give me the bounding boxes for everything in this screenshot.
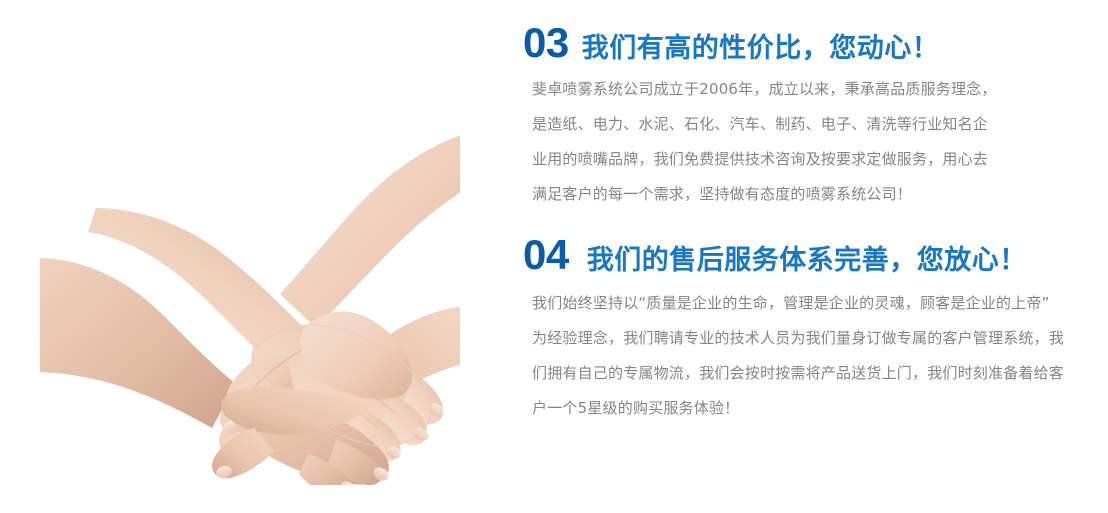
- section-03-line-3: 业用的喷嘴品牌，我们免费提供技术咨询及按要求定做服务，用心去: [532, 142, 1098, 177]
- section-04-title: 我们的售后服务体系完善，您放心！: [587, 247, 1027, 274]
- text-column: 03 我们有高的性价比，您动心！ 斐卓喷雾系统公司成立于2006年，成立以来，秉…: [523, 22, 1098, 426]
- section-03-body: 斐卓喷雾系统公司成立于2006年，成立以来，秉承高品质服务理念， 是造纸、电力、…: [523, 72, 1098, 212]
- section-04-heading: 04 我们的售后服务体系完善，您放心！: [523, 234, 1098, 276]
- section-03-line-1: 斐卓喷雾系统公司成立于2006年，成立以来，秉承高品质服务理念，: [532, 72, 1098, 107]
- section-04-body: 我们始终坚持以“质量是企业的生命，管理是企业的灵魂，顾客是企业的上帝” 为经验理…: [523, 286, 1098, 426]
- stacked-hands-teamwork-photo: [40, 110, 460, 485]
- section-03-heading: 03 我们有高的性价比，您动心！: [523, 22, 1098, 64]
- section-03-number: 03: [523, 22, 569, 64]
- section-03: 03 我们有高的性价比，您动心！ 斐卓喷雾系统公司成立于2006年，成立以来，秉…: [523, 22, 1098, 212]
- section-04-line-3: 们拥有自己的专属物流，我们会按时按需将产品送货上门，我们时刻准备着给客: [532, 356, 1098, 391]
- section-04-line-1: 我们始终坚持以“质量是企业的生命，管理是企业的灵魂，顾客是企业的上帝”: [532, 286, 1098, 321]
- section-04-line-4: 户一个5星级的购买服务体验！: [532, 391, 1098, 426]
- section-03-line-2: 是造纸、电力、水泥、石化、汽车、制药、电子、清洗等行业知名企: [532, 107, 1098, 142]
- section-04: 04 我们的售后服务体系完善，您放心！ 我们始终坚持以“质量是企业的生命，管理是…: [523, 234, 1098, 426]
- section-04-number: 04: [523, 234, 569, 276]
- section-03-title: 我们有高的性价比，您动心！: [582, 35, 940, 62]
- section-04-line-2: 为经验理念，我们聘请专业的技术人员为我们量身订做专属的客户管理系统，我: [532, 321, 1098, 356]
- section-03-line-4: 满足客户的每一个需求，坚持做有态度的喷雾系统公司！: [532, 177, 1098, 212]
- promo-banner: 03 我们有高的性价比，您动心！ 斐卓喷雾系统公司成立于2006年，成立以来，秉…: [0, 0, 1108, 513]
